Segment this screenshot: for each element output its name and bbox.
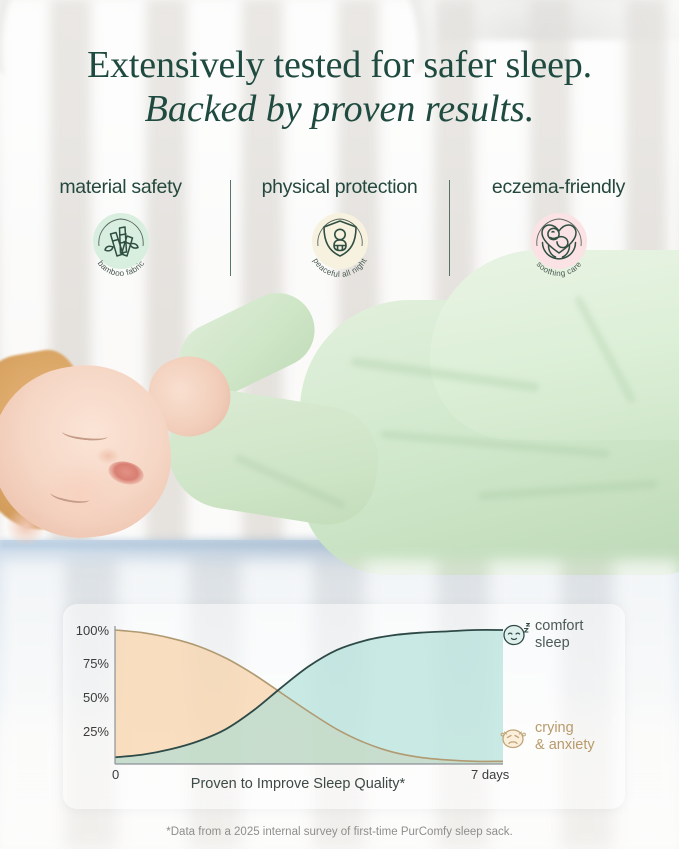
badge-bamboo-fabric: bamboo fabric	[82, 204, 160, 282]
feature-title: material safety	[59, 176, 181, 199]
legend-crying-label-line2: & anxiety	[535, 737, 595, 753]
y-tick-50: 50%	[63, 690, 109, 705]
feature-title: physical protection	[262, 176, 418, 199]
legend-crying-anxiety: crying & anxiety	[535, 720, 595, 754]
headline-line-1: Extensively tested for safer sleep.	[0, 44, 679, 86]
legend-comfort-label-line2: sleep	[535, 635, 570, 651]
badge-peaceful-all-night: peaceful all night	[301, 204, 379, 282]
sleeping-baby	[0, 310, 679, 580]
chart-areas	[115, 630, 503, 764]
chart-inner: 100% 75% 50% 25% 0 7 days Proven to Impr…	[63, 604, 625, 809]
svg-text:peaceful all night: peaceful all night	[311, 256, 369, 279]
feature-material-safety: material safety	[12, 176, 230, 282]
badge-caption: soothing care	[534, 260, 583, 278]
marketing-infographic: Extensively tested for safer sleep. Back…	[0, 0, 679, 849]
crib-headboard-detail	[439, 0, 679, 40]
headline-line-2: Backed by proven results.	[0, 86, 679, 132]
headline: Extensively tested for safer sleep. Back…	[0, 44, 679, 132]
legend-comfort-sleep: comfort sleep	[535, 618, 583, 652]
sleeping-baby-face-icon	[499, 620, 533, 650]
baby-ear	[6, 506, 46, 546]
y-tick-100: 100%	[63, 623, 109, 638]
badge-caption: peaceful all night	[311, 256, 369, 279]
feature-eczema-friendly: eczema-friendly	[450, 176, 668, 282]
badge-soothing-care: soothing care	[520, 204, 598, 282]
svg-text:soothing care: soothing care	[534, 260, 583, 278]
badge-caption: bamboo fabric	[95, 259, 145, 278]
legend-comfort-label-line1: comfort	[535, 618, 583, 634]
feature-badges: material safety	[0, 176, 679, 288]
chart-caption: Proven to Improve Sleep Quality*	[63, 776, 533, 792]
feature-physical-protection: physical protection peaceful all night	[231, 176, 449, 282]
feature-title: eczema-friendly	[492, 176, 625, 199]
svg-text:bamboo fabric: bamboo fabric	[95, 259, 145, 278]
y-tick-75: 75%	[63, 656, 109, 671]
footnote: *Data from a 2025 internal survey of fir…	[0, 826, 679, 838]
sleep-quality-chart-card: 100% 75% 50% 25% 0 7 days Proven to Impr…	[63, 604, 625, 809]
legend-crying-label-line1: crying	[535, 720, 574, 736]
crying-baby-face-icon	[497, 722, 531, 752]
y-tick-25: 25%	[63, 724, 109, 739]
